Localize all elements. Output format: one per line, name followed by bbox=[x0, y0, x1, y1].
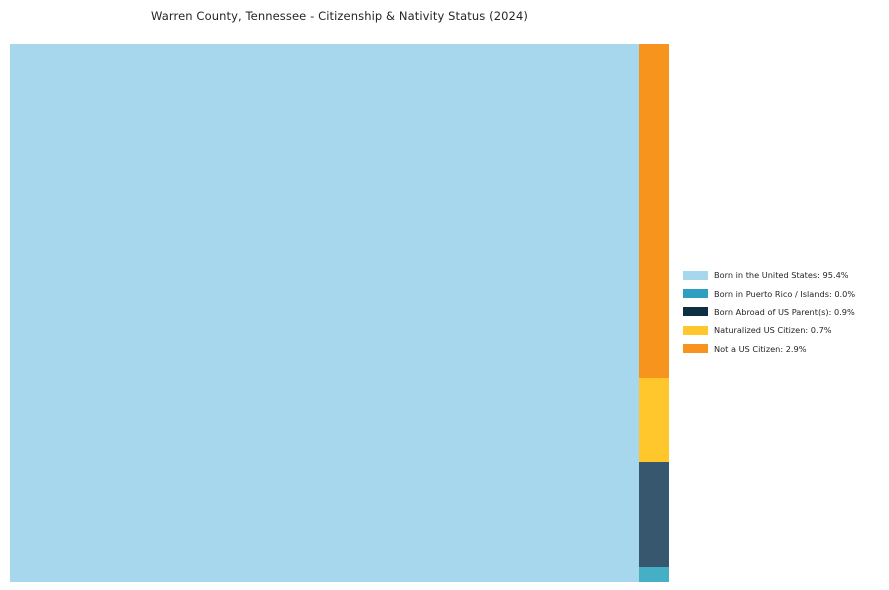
treemap-plot-area bbox=[10, 44, 669, 582]
legend-item-born-abroad-of-us-parents[interactable]: Born Abroad of US Parent(s): 0.9% bbox=[683, 303, 883, 321]
legend-item-not-a-us-citizen[interactable]: Not a US Citizen: 2.9% bbox=[683, 340, 883, 358]
legend-color-swatch-icon bbox=[683, 289, 708, 298]
treemap-tile-not-a-us-citizen[interactable] bbox=[639, 44, 669, 378]
legend-item-born-in-the-united-states[interactable]: Born in the United States: 95.4% bbox=[683, 266, 883, 284]
legend-color-swatch-icon bbox=[683, 326, 708, 335]
legend-item-label: Born Abroad of US Parent(s): 0.9% bbox=[714, 307, 855, 317]
treemap-tile-born-in-puerto-rico-islands[interactable] bbox=[639, 567, 669, 582]
legend-color-swatch-icon bbox=[683, 344, 708, 353]
legend-item-born-in-puerto-rico-islands[interactable]: Born in Puerto Rico / Islands: 0.0% bbox=[683, 284, 883, 302]
treemap-tile-born-abroad-of-us-parents[interactable] bbox=[639, 462, 669, 567]
legend-item-label: Born in the United States: 95.4% bbox=[714, 270, 849, 280]
legend-item-label: Born in Puerto Rico / Islands: 0.0% bbox=[714, 289, 855, 299]
legend-item-label: Not a US Citizen: 2.9% bbox=[714, 344, 807, 354]
legend-color-swatch-icon bbox=[683, 307, 708, 316]
chart-legend: Born in the United States: 95.4% Born in… bbox=[683, 266, 883, 358]
treemap-tile-naturalized-us-citizen[interactable] bbox=[639, 378, 669, 462]
treemap-tile-born-in-the-united-states[interactable] bbox=[10, 44, 639, 582]
legend-item-label: Naturalized US Citizen: 0.7% bbox=[714, 325, 832, 335]
legend-color-swatch-icon bbox=[683, 271, 708, 280]
chart-figure: Warren County, Tennessee - Citizenship &… bbox=[0, 0, 889, 590]
legend-item-naturalized-us-citizen[interactable]: Naturalized US Citizen: 0.7% bbox=[683, 321, 883, 339]
chart-title: Warren County, Tennessee - Citizenship &… bbox=[0, 8, 679, 24]
